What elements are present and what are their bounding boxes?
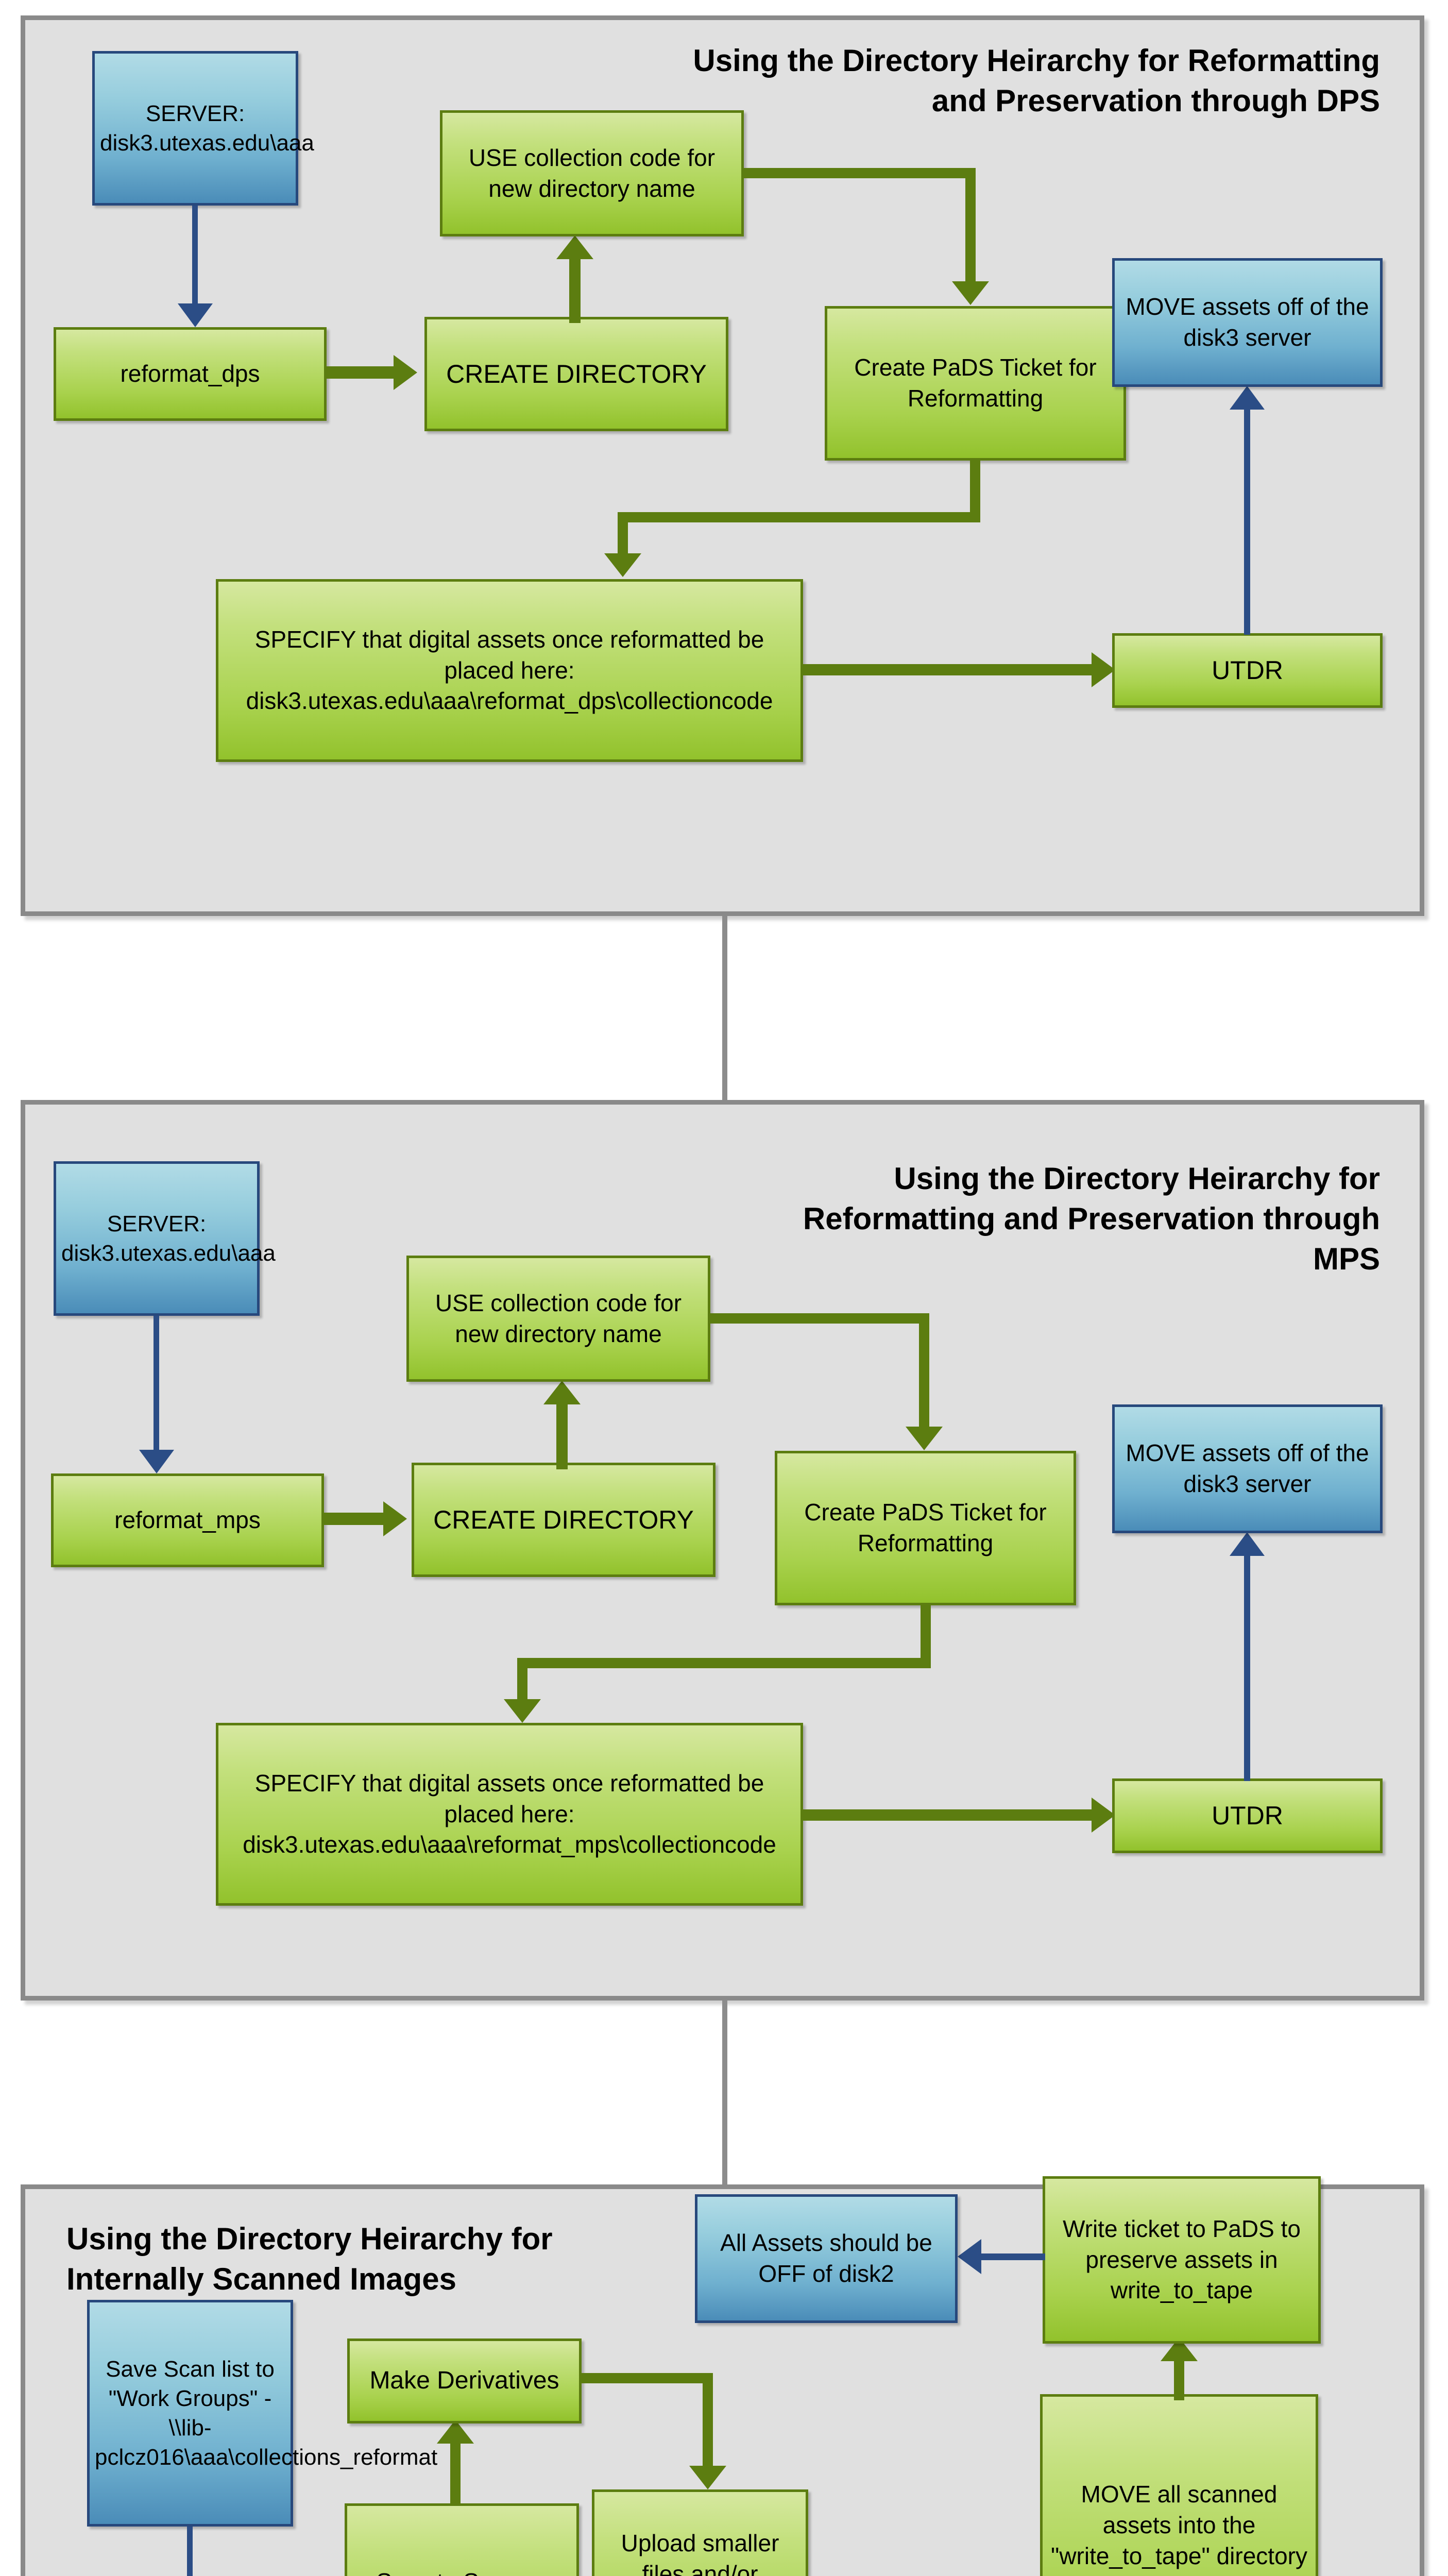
node-all-assets-off[interactable]: All Assets should be OFF of disk2 (695, 2194, 958, 2323)
node-move-scanned[interactable]: MOVE all scanned assets into the "write_… (1040, 2394, 1318, 2576)
node-upload-smaller[interactable]: Upload smaller files and/or derivatives … (592, 2489, 808, 2576)
panel-connector-1-2 (722, 916, 727, 1100)
edge-specify-to-utdr (803, 1809, 1092, 1821)
node-create-pads-ticket[interactable]: Create PaDS Ticket for Reformatting (825, 306, 1126, 461)
edge-usecode-to-pads-v (919, 1313, 929, 1427)
edge-makederiv-to-upload-v (703, 2373, 713, 2466)
node-save-to-server[interactable]: Save to Server - disk2.lib.utexas.edu/ar… (345, 2503, 579, 2576)
node-upload-smaller-label: Upload smaller files and/or derivatives … (594, 2528, 806, 2576)
edge-reformat-to-createdir (327, 366, 394, 379)
edge-createdir-to-usecode (556, 1402, 568, 1469)
node-create-directory[interactable]: CREATE DIRECTORY (424, 317, 728, 431)
node-create-directory-label: CREATE DIRECTORY (414, 1503, 713, 1537)
edge-reformat-to-createdir-arrowhead (383, 1501, 407, 1536)
node-specify[interactable]: SPECIFY that digital assets once reforma… (216, 579, 803, 762)
panel-mps-title: Using the Directory Heirarchy for Reform… (782, 1159, 1380, 1279)
node-write-ticket[interactable]: Write ticket to PaDS to preserve assets … (1043, 2176, 1321, 2344)
edge-pads-to-specify-v2 (618, 512, 628, 553)
node-reformat-label: reformat_mps (54, 1505, 321, 1536)
edge-pads-to-specify-arrowhead (504, 1699, 541, 1723)
node-utdr[interactable]: UTDR (1112, 1778, 1383, 1853)
node-specify-label: SPECIFY that digital assets once reforma… (218, 1768, 800, 1860)
edge-movescanned-to-writeticket (1174, 2359, 1184, 2400)
edge-pads-to-specify-v1 (970, 461, 980, 517)
node-move-assets-label: MOVE assets off of the disk3 server (1115, 1438, 1380, 1500)
node-specify[interactable]: SPECIFY that digital assets once reforma… (216, 1723, 803, 1906)
node-specify-label: SPECIFY that digital assets once reforma… (218, 624, 800, 717)
panel-scanned: Using the Directory Heirarchy for Intern… (21, 2184, 1424, 2576)
edge-savetoserver-to-makederiv (450, 2442, 461, 2506)
edge-reformat-to-createdir-arrowhead (394, 355, 417, 390)
node-reformat[interactable]: reformat_mps (51, 1473, 324, 1567)
edge-writeticket-to-allassets (981, 2253, 1045, 2260)
panel-dps: Using the Directory Heirarchy for Reform… (21, 15, 1424, 916)
node-save-scan-list-label: Save Scan list to "Work Groups" - \\lib-… (90, 2354, 291, 2472)
edge-utdr-to-move-arrowhead (1230, 386, 1265, 410)
edge-pads-to-specify-h (618, 512, 980, 522)
edge-makederiv-to-upload-arrowhead (689, 2466, 726, 2489)
edge-usecode-to-pads-v (965, 168, 976, 281)
edge-usecode-to-pads-arrowhead (906, 1427, 943, 1450)
edge-makederiv-to-upload-h (582, 2373, 713, 2383)
edge-pads-to-specify-h (517, 1658, 931, 1668)
node-use-collection-code[interactable]: USE collection code for new directory na… (440, 110, 744, 236)
node-utdr-label: UTDR (1115, 1799, 1380, 1833)
edge-savescan-to-scanimage (187, 2527, 193, 2576)
node-create-directory[interactable]: CREATE DIRECTORY (412, 1463, 716, 1577)
node-use-collection-code-label: USE collection code for new directory na… (442, 143, 741, 205)
edge-server-to-reformat (154, 1316, 159, 1450)
node-use-collection-code-label: USE collection code for new directory na… (409, 1288, 708, 1350)
edge-createdir-to-usecode-arrowhead (556, 235, 593, 259)
edge-utdr-to-move-arrowhead (1230, 1532, 1265, 1556)
edge-pads-to-specify-arrowhead (604, 553, 641, 577)
node-all-assets-off-label: All Assets should be OFF of disk2 (697, 2228, 955, 2290)
panel-mps: Using the Directory Heirarchy for Reform… (21, 1100, 1424, 2001)
node-server-label: SERVER: disk3.utexas.edu\aaa (95, 99, 296, 158)
edge-writeticket-to-allassets-arrowhead (958, 2239, 981, 2274)
node-save-scan-list[interactable]: Save Scan list to "Work Groups" - \\lib-… (87, 2300, 293, 2527)
node-use-collection-code[interactable]: USE collection code for new directory na… (406, 1256, 710, 1382)
edge-server-to-reformat-arrowhead (178, 303, 213, 327)
edge-server-to-reformat-arrowhead (139, 1450, 174, 1473)
node-server-label: SERVER: disk3.utexas.edu\aaa (56, 1209, 257, 1268)
node-create-directory-label: CREATE DIRECTORY (427, 358, 726, 391)
node-move-scanned-label: MOVE all scanned assets into the "write_… (1043, 2479, 1316, 2576)
node-server[interactable]: SERVER: disk3.utexas.edu\aaa (54, 1161, 260, 1316)
edge-pads-to-specify-v2 (517, 1658, 527, 1699)
panel-scanned-title: Using the Directory Heirarchy for Intern… (66, 2219, 664, 2299)
node-utdr[interactable]: UTDR (1112, 633, 1383, 708)
node-make-derivatives[interactable]: Make Derivatives (347, 2338, 582, 2424)
panel-dps-title: Using the Directory Heirarchy for Reform… (690, 41, 1380, 121)
node-create-pads-ticket-label: Create PaDS Ticket for Reformatting (777, 1497, 1074, 1559)
node-move-assets[interactable]: MOVE assets off of the disk3 server (1112, 258, 1383, 387)
node-create-pads-ticket[interactable]: Create PaDS Ticket for Reformatting (775, 1451, 1076, 1605)
edge-pads-to-specify-v1 (921, 1605, 931, 1663)
node-write-ticket-label: Write ticket to PaDS to preserve assets … (1045, 2214, 1318, 2306)
edge-utdr-to-move (1244, 1555, 1250, 1781)
edge-utdr-to-move (1244, 409, 1250, 635)
node-server[interactable]: SERVER: disk3.utexas.edu\aaa (92, 51, 298, 206)
edge-createdir-to-usecode-arrowhead (543, 1381, 581, 1404)
node-move-assets[interactable]: MOVE assets off of the disk3 server (1112, 1404, 1383, 1533)
node-create-pads-ticket-label: Create PaDS Ticket for Reformatting (827, 352, 1123, 414)
edge-usecode-to-pads-arrowhead (952, 281, 989, 305)
node-make-derivatives-label: Make Derivatives (350, 2365, 579, 2397)
edge-createdir-to-usecode (569, 257, 581, 323)
node-utdr-label: UTDR (1115, 654, 1380, 687)
node-reformat-label: reformat_dps (56, 359, 324, 389)
node-save-to-server-label: Save to Server - disk2.lib.utexas.edu/ar… (347, 2567, 576, 2576)
edge-reformat-to-createdir (324, 1513, 383, 1525)
edge-server-to-reformat (192, 206, 198, 303)
edge-specify-to-utdr (803, 664, 1092, 675)
panel-connector-2-3 (722, 2001, 727, 2184)
node-reformat[interactable]: reformat_dps (54, 327, 327, 421)
edge-usecode-to-pads-h (744, 168, 976, 178)
edge-usecode-to-pads-h (710, 1313, 929, 1324)
node-move-assets-label: MOVE assets off of the disk3 server (1115, 292, 1380, 353)
